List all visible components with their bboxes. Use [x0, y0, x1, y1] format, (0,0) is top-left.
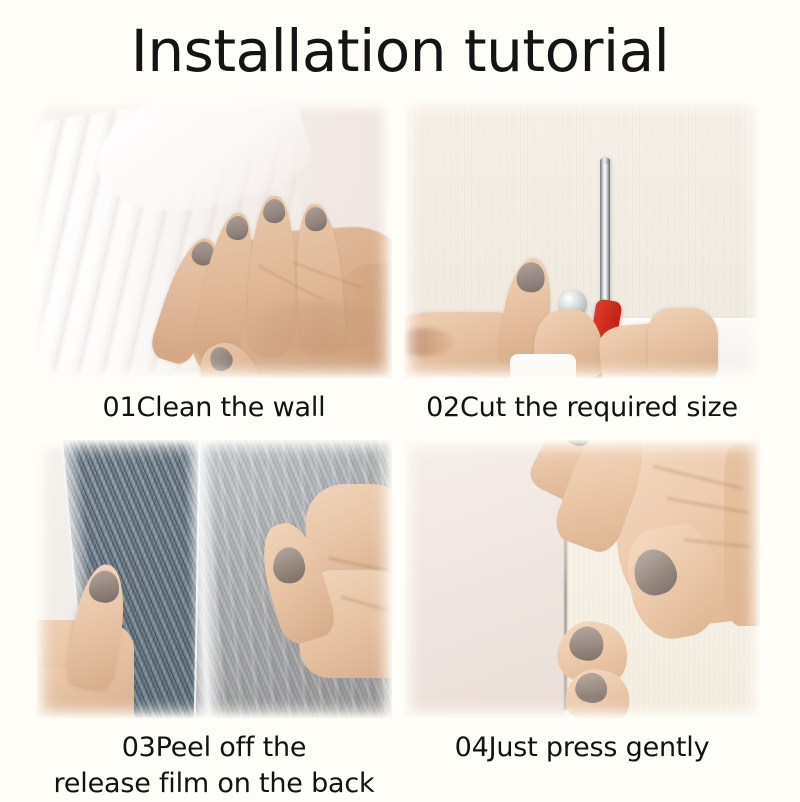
caption-line: 04Just press gently	[404, 730, 760, 766]
fingernail	[304, 206, 328, 231]
fingernail	[263, 199, 286, 224]
caption-line: 03Peel off the	[36, 730, 392, 766]
caption-line: 02Cut the required size	[404, 390, 760, 426]
finger-little	[648, 308, 718, 378]
step-card-2: 02Cut the required size	[404, 100, 760, 426]
caption-line: release film on the back	[36, 766, 392, 802]
fingernail	[573, 670, 610, 705]
thumbnail	[206, 343, 236, 374]
thumbnail	[628, 544, 682, 601]
installation-tutorial-infographic: Installation tutorial	[0, 0, 800, 800]
step-1-clean-the-wall-photo	[36, 100, 392, 378]
caption-line: 01Clean the wall	[36, 390, 392, 426]
step-card-3: 03Peel off the release film on the back	[36, 440, 392, 802]
thumbnail	[87, 568, 122, 604]
step-3-peel-off-release-film-photo	[36, 440, 392, 718]
fingernail	[224, 214, 250, 241]
knuckle-shading	[244, 302, 392, 352]
hand-cutting	[404, 250, 760, 378]
hand-wiping	[94, 152, 392, 378]
wrist	[724, 440, 760, 626]
fingernail	[567, 623, 607, 663]
step-card-1: 01Clean the wall	[36, 100, 392, 426]
hand-holding-panel	[36, 558, 198, 718]
step-2-cut-the-required-size-photo	[404, 100, 760, 378]
fingernail	[515, 260, 547, 294]
fingernail	[272, 547, 305, 584]
step-card-4: 04Just press gently	[404, 440, 760, 766]
rolled-panel	[510, 354, 576, 378]
hand-peeling-film	[254, 478, 392, 678]
step-1-caption: 01Clean the wall	[36, 378, 392, 426]
step-4-caption: 04Just press gently	[404, 718, 760, 766]
step-2-caption: 02Cut the required size	[404, 378, 760, 426]
steps-grid: 01Clean the wall	[0, 100, 800, 800]
step-4-just-press-gently-photo	[404, 440, 760, 718]
hand-pressing	[534, 440, 760, 718]
step-3-caption: 03Peel off the release film on the back	[36, 718, 392, 802]
page-title: Installation tutorial	[0, 14, 800, 88]
